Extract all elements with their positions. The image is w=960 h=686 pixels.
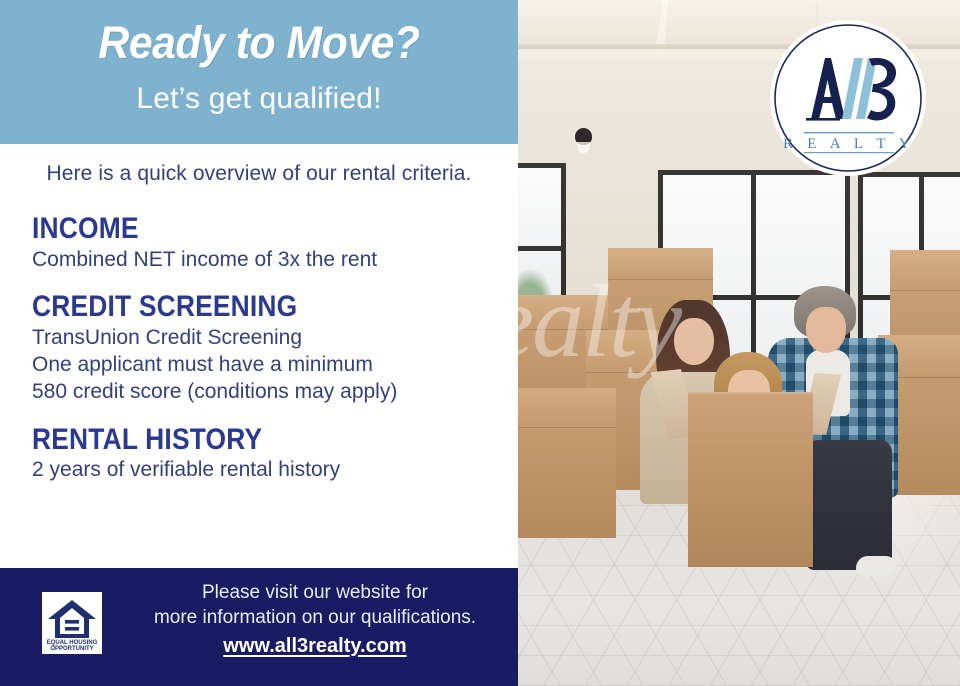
criteria-line: TransUnion Credit Screening xyxy=(32,325,498,352)
criteria-line: 2 years of verifiable rental history xyxy=(32,457,498,484)
criteria-body: 2 years of verifiable rental history xyxy=(32,457,498,484)
criteria-title: CREDIT SCREENING xyxy=(32,292,442,323)
criteria-section-credit-screening: CREDIT SCREENING TransUnion Credit Scree… xyxy=(32,292,498,405)
footer-message: Please visit our website for more inform… xyxy=(120,580,510,659)
all3-realty-logo: R E A L T Y xyxy=(768,18,928,178)
criteria-body: Combined NET income of 3x the rent xyxy=(32,247,498,274)
criteria-body: TransUnion Credit Screening One applican… xyxy=(32,325,498,406)
intro-text: Here is a quick overview of our rental c… xyxy=(0,162,518,186)
criteria-panel: Here is a quick overview of our rental c… xyxy=(0,144,518,568)
criteria-section-rental-history: RENTAL HISTORY 2 years of verifiable ren… xyxy=(32,425,498,484)
page-title: Ready to Move? xyxy=(13,17,505,69)
photo-watermark: ealty xyxy=(518,262,680,381)
page-subtitle: Let’s get qualified! xyxy=(0,82,518,116)
criteria-line: 580 credit score (conditions may apply) xyxy=(32,379,498,406)
criteria-line: One applicant must have a minimum xyxy=(32,352,498,379)
equal-housing-line2: OPPORTUNITY xyxy=(50,646,93,652)
cardboard-box xyxy=(518,388,616,538)
footer-line-1: Please visit our website for xyxy=(120,580,510,605)
ceiling-beam xyxy=(518,0,661,46)
equal-housing-opportunity-logo: EQUAL HOUSING OPPORTUNITY xyxy=(42,592,102,654)
logo-wordmark: R E A L T Y xyxy=(783,136,915,152)
criteria-title: INCOME xyxy=(32,214,442,245)
criteria-title: RENTAL HISTORY xyxy=(32,425,442,456)
rental-criteria-flyer: ealty R E A L T Y Ready to Move? Let’s g… xyxy=(0,0,960,686)
header-band: Ready to Move? Let’s get qualified! xyxy=(0,0,518,144)
criteria-list: INCOME Combined NET income of 3x the ren… xyxy=(32,214,498,503)
equal-housing-icon: EQUAL HOUSING OPPORTUNITY xyxy=(44,594,100,652)
website-link[interactable]: www.all3realty.com xyxy=(223,633,406,660)
wall-sconce-light xyxy=(575,128,592,145)
criteria-section-income: INCOME Combined NET income of 3x the ren… xyxy=(32,214,498,273)
criteria-line: Combined NET income of 3x the rent xyxy=(32,247,498,274)
large-cardboard-box-front xyxy=(688,392,813,567)
footer-line-2: more information on our qualifications. xyxy=(120,605,510,630)
all3-realty-logo-svg: R E A L T Y xyxy=(768,18,928,178)
